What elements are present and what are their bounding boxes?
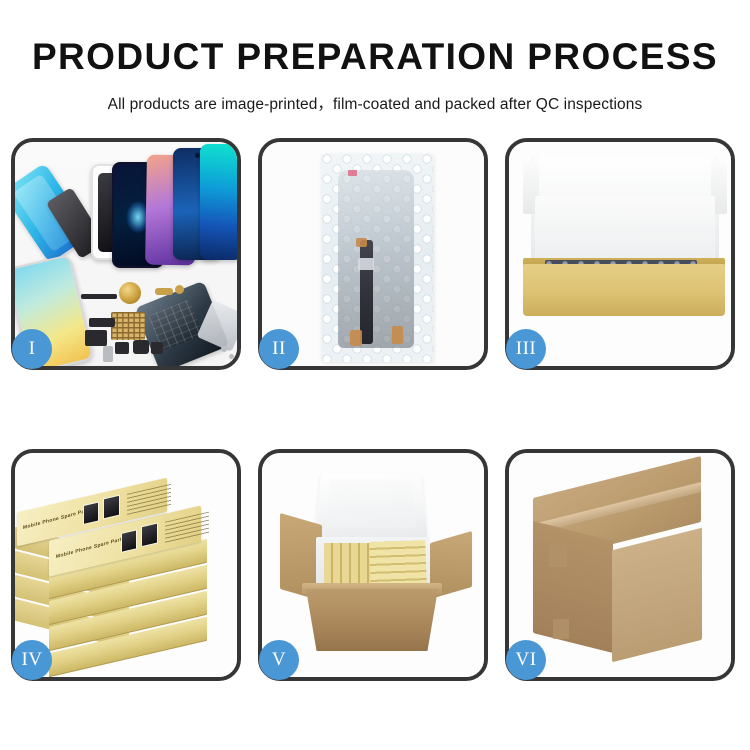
step-panel-5[interactable]: V <box>258 449 488 681</box>
step-panel-4[interactable]: Mobile Phone Spare Parts Mobile Phone Sp… <box>11 449 241 681</box>
step-badge-3: III <box>506 329 546 369</box>
steps-row-1: I II <box>11 138 741 370</box>
speaker-part <box>151 342 163 354</box>
step-image-sealed-shipping-carton <box>509 453 731 677</box>
step-image-phone-screens-and-parts <box>15 142 237 366</box>
teal-wave-phone-image <box>200 144 237 260</box>
box-label-2: Mobile Phone Spare Parts <box>56 536 125 560</box>
white-foam-sheet-image <box>535 196 715 264</box>
step-panel-3[interactable]: III <box>505 138 735 370</box>
carton-body-image <box>306 589 438 651</box>
button-flex-part <box>155 288 173 295</box>
screw-grid-component-icon <box>111 312 145 340</box>
step-badge-2: II <box>259 329 299 369</box>
sim-tray-part <box>103 346 113 362</box>
step-image-bubble-wrapped-screen <box>262 142 484 366</box>
kraft-tray-image <box>523 264 725 316</box>
packing-tape-upper <box>549 545 567 567</box>
carton-left-face <box>533 521 613 653</box>
page-subtitle: All products are image-printed，film-coat… <box>0 75 750 114</box>
box-spec-text-1 <box>127 484 171 516</box>
step-badge-4: IV <box>12 640 52 680</box>
step-panel-2[interactable]: II <box>258 138 488 370</box>
process-infographic: PRODUCT PREPARATION PROCESS All products… <box>0 0 750 750</box>
box-thumbnail-2b <box>141 522 158 547</box>
step-image-stacked-retail-boxes: Mobile Phone Spare Parts Mobile Phone Sp… <box>15 453 237 677</box>
foam-lid-image <box>315 473 428 538</box>
packing-tape-lower <box>553 619 569 639</box>
step-image-open-inner-box-with-foam <box>509 142 731 366</box>
screw-part-b <box>229 354 234 359</box>
vibrator-part <box>133 340 149 354</box>
connector-part <box>115 342 129 354</box>
speaker-component-icon <box>119 282 141 304</box>
connector-top <box>356 238 367 247</box>
lcd-screen-inside-bag <box>338 170 414 348</box>
pink-qc-sticker <box>348 170 357 176</box>
antenna-strip-part <box>81 294 117 299</box>
box-thumbnail-2a <box>121 529 137 553</box>
steps-grid: I II <box>11 138 741 681</box>
step-image-open-carton-with-boxes <box>262 453 484 677</box>
box-thumbnail-1a <box>83 501 99 525</box>
step-badge-1: I <box>12 329 52 369</box>
camera-flex-part <box>89 318 115 327</box>
carton-right-face <box>612 528 702 662</box>
step-badge-5: V <box>259 640 299 680</box>
driver-ic-image <box>358 258 374 270</box>
ribbon-cable-part <box>85 330 107 346</box>
flex-cable-image <box>360 240 373 344</box>
packed-retail-boxes-right <box>369 540 427 586</box>
box-thumbnail-1b <box>103 495 120 520</box>
bubble-wrap-bag-image <box>322 154 434 362</box>
connector-bottom-left <box>350 330 362 346</box>
step-panel-1[interactable]: I <box>11 138 241 370</box>
home-button-part <box>175 285 184 294</box>
page-title: PRODUCT PREPARATION PROCESS <box>0 0 750 75</box>
box-label-1: Mobile Phone Spare Parts <box>23 507 92 531</box>
step-badge-6: VI <box>506 640 546 680</box>
step-panel-6[interactable]: VI <box>505 449 735 681</box>
steps-row-2: Mobile Phone Spare Parts Mobile Phone Sp… <box>11 449 741 681</box>
connector-bottom-right <box>392 326 403 344</box>
header: PRODUCT PREPARATION PROCESS All products… <box>0 0 750 114</box>
